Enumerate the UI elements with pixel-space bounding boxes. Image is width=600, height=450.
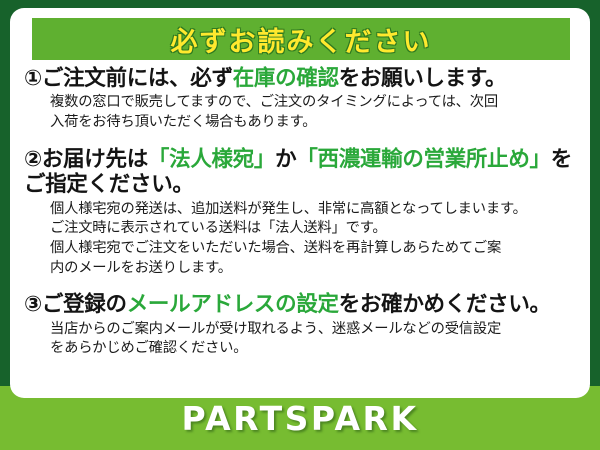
notice-item-1-heading-highlight: 在庫の確認 [233,66,339,91]
notice-item-2-heading-part-3: か [275,147,296,172]
notice-item-2-number: ② [24,147,42,172]
header-band: 必ずお読みください [32,18,570,60]
notice-item-1-heading-part-1: ご注文前には、必ず [42,66,233,91]
notice-item-1-body: 複数の窓口で販売してますので、ご注文のタイミングによっては、次回 入荷をお待ち頂… [50,93,576,132]
notice-banner: 必ずお読みください ①ご注文前には、必ず在庫の確認をお願いします。 複数の窓口で… [0,0,600,450]
notice-item-1-heading: ①ご注文前には、必ず在庫の確認をお願いします。 [24,66,576,91]
notice-item-2: ②お届け先は「法人様宛」か「西濃運輸の営業所止め」をご指定ください。 個人様宅宛… [24,147,576,279]
notice-panel: 必ずお読みください ①ご注文前には、必ず在庫の確認をお願いします。 複数の窓口で… [10,8,590,398]
notice-item-1: ①ご注文前には、必ず在庫の確認をお願いします。 複数の窓口で販売してますので、ご… [24,66,576,133]
notice-item-1-heading-part-3: をお願いします。 [339,66,506,91]
page-title: 必ずお読みください [171,20,432,59]
notice-item-3: ③ご登録のメールアドレスの設定をお確かめください。 当店からのご案内メールが受け… [24,292,576,359]
notice-item-3-heading-part-1: ご登録の [42,292,127,317]
notice-item-3-number: ③ [24,292,42,317]
notice-item-2-heading-highlight-1: 「法人様宛」 [148,147,275,172]
notice-item-3-body: 当店からのご案内メールが受け取れるよう、迷惑メールなどの受信設定 をあらかじめご… [50,320,576,359]
notice-item-3-heading: ③ご登録のメールアドレスの設定をお確かめください。 [24,292,576,317]
notice-item-3-heading-highlight: メールアドレスの設定 [127,292,339,317]
notice-item-2-body: 個人様宅宛の発送は、追加送料が発生し、非常に高額となってしまいます。 ご注文時に… [50,200,576,279]
notice-item-2-heading-highlight-2: 「西濃運輸の営業所止め」 [296,147,550,172]
notice-content: ①ご注文前には、必ず在庫の確認をお願いします。 複数の窓口で販売してますので、ご… [10,66,590,361]
notice-item-2-heading-part-1: お届け先は [42,147,148,172]
notice-item-3-heading-part-3: をお確かめください。 [339,292,551,317]
footer: PARTSPARK [0,386,600,450]
brand-logo-text: PARTSPARK [181,399,418,438]
notice-item-1-number: ① [24,66,42,91]
notice-item-2-heading: ②お届け先は「法人様宛」か「西濃運輸の営業所止め」をご指定ください。 [24,147,576,198]
